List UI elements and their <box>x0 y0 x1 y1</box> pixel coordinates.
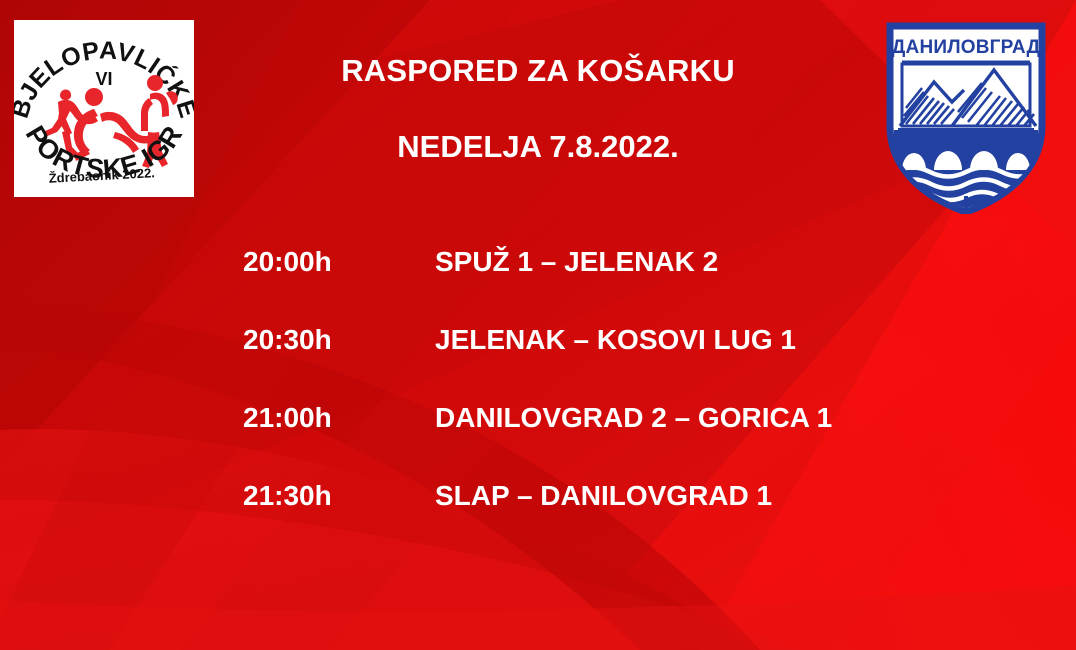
match-teams: SLAP – DANILOVGRAD 1 <box>435 480 772 512</box>
schedule-list: 20:00h SPUŽ 1 – JELENAK 2 20:30h JELENAK… <box>243 246 943 558</box>
schedule-row: 21:30h SLAP – DANILOVGRAD 1 <box>243 480 943 558</box>
match-time: 20:30h <box>243 324 435 356</box>
match-time: 21:30h <box>243 480 435 512</box>
page-subtitle: NEDELJA 7.8.2022. <box>200 130 876 164</box>
match-time: 21:00h <box>243 402 435 434</box>
danilovgrad-coat-of-arms: ДАНИЛОВГРАД <box>876 18 1056 214</box>
poster-root: BJELOPAVLIĆKE VI <box>0 0 1076 650</box>
match-teams: DANILOVGRAD 2 – GORICA 1 <box>435 402 832 434</box>
header-block: RASPORED ZA KOŠARKU NEDELJA 7.8.2022. <box>200 54 876 164</box>
match-time: 20:00h <box>243 246 435 278</box>
schedule-row: 20:30h JELENAK – KOSOVI LUG 1 <box>243 324 943 402</box>
schedule-row: 21:00h DANILOVGRAD 2 – GORICA 1 <box>243 402 943 480</box>
logo-left-edition: VI <box>95 69 112 89</box>
bjelopavlicke-sportske-igre-logo: BJELOPAVLIĆKE VI <box>14 20 194 197</box>
logo-left-graphic: BJELOPAVLIĆKE VI <box>14 20 194 197</box>
match-teams: SPUŽ 1 – JELENAK 2 <box>435 246 718 278</box>
page-title: RASPORED ZA KOŠARKU <box>200 54 876 88</box>
schedule-row: 20:00h SPUŽ 1 – JELENAK 2 <box>243 246 943 324</box>
match-teams: JELENAK – KOSOVI LUG 1 <box>435 324 796 356</box>
coat-of-arms-graphic: ДАНИЛОВГРАД <box>876 18 1056 214</box>
coat-of-arms-title: ДАНИЛОВГРАД <box>892 37 1041 58</box>
